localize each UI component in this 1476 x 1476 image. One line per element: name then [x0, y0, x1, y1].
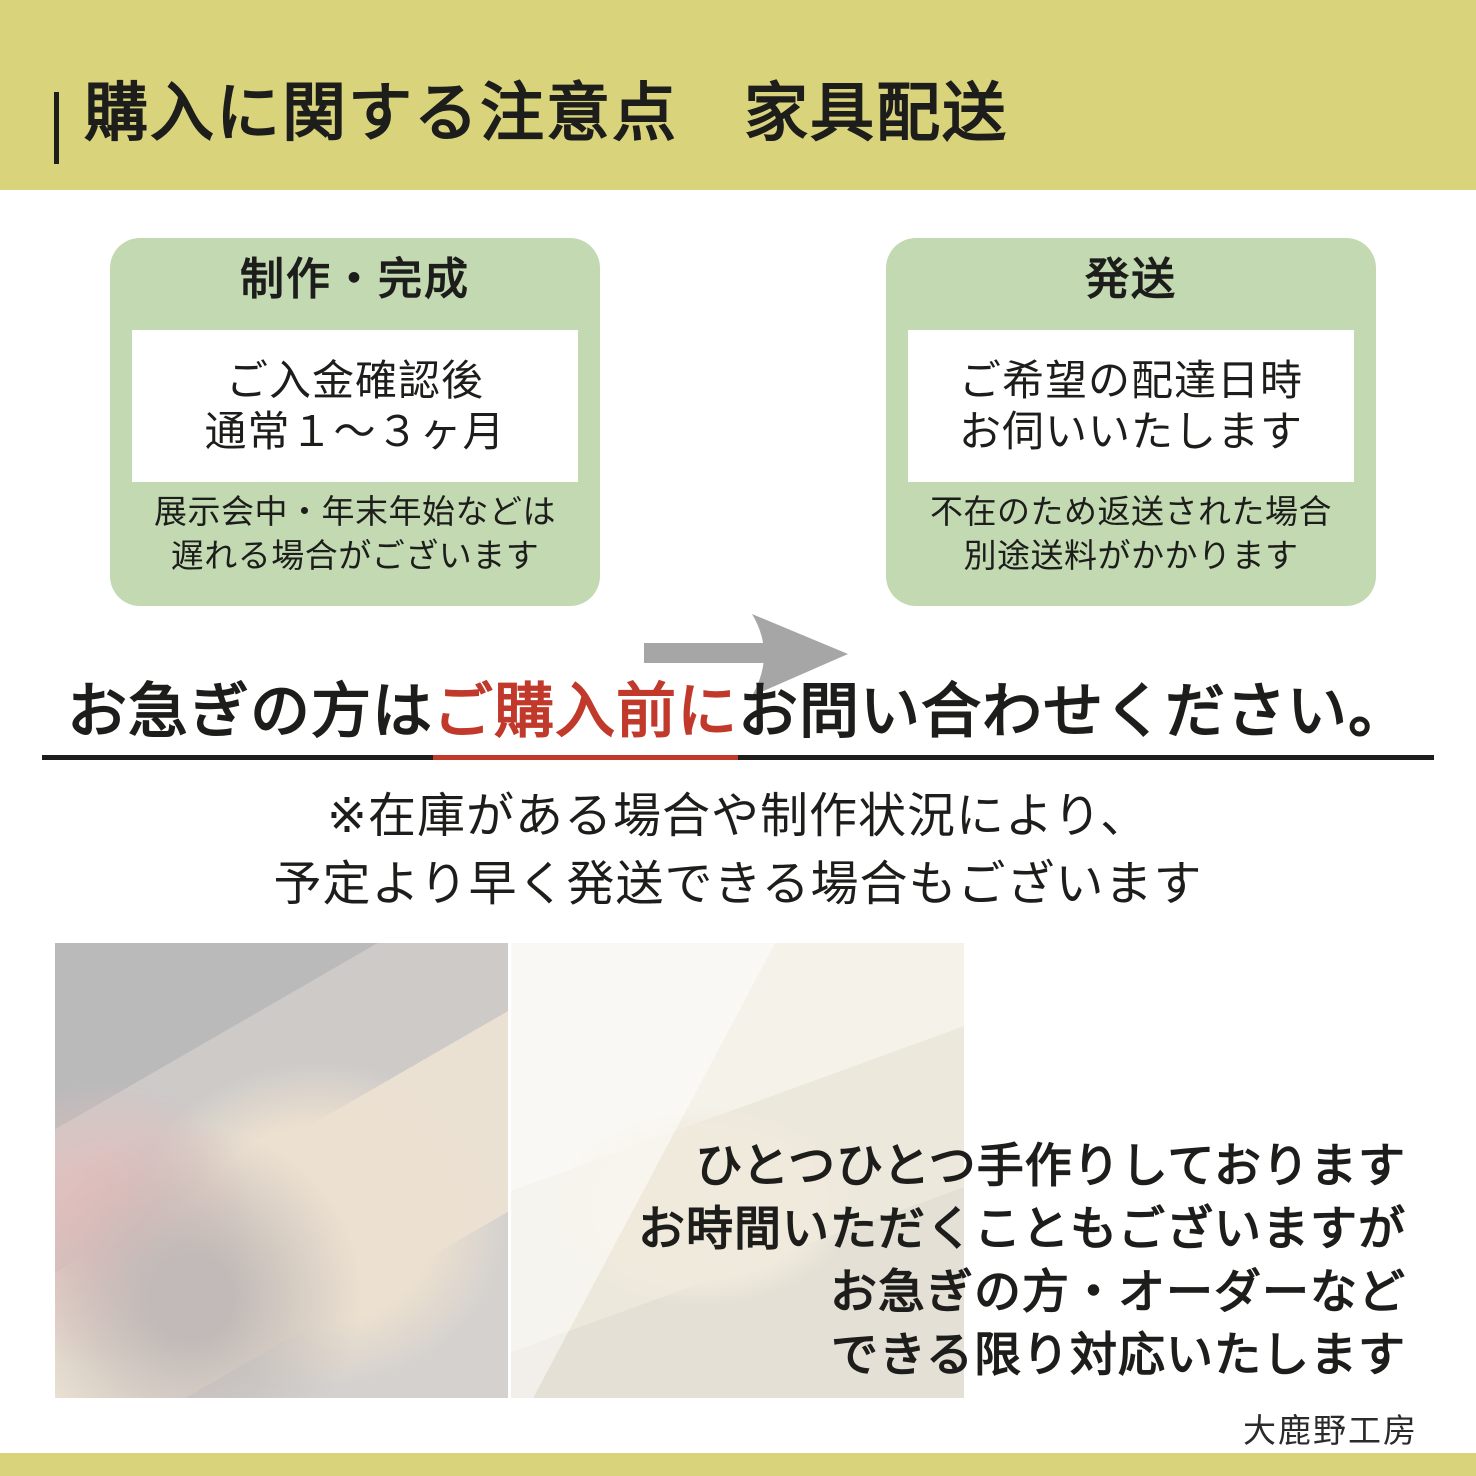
notice-prefix: お急ぎの方は	[67, 677, 433, 747]
process-steps: 制作・完成 ご入金確認後 通常１〜３ヶ月 展示会中・年末年始などは 遅れる場合が…	[0, 238, 1476, 610]
step-note-production: 展示会中・年末年始などは 遅れる場合がございます	[110, 490, 600, 578]
notice-highlight-wrap: ご購入前に	[433, 678, 738, 747]
step-note-line: 遅れる場合がございます	[110, 534, 600, 578]
notice-sub-block: ※在庫がある場合や制作状況により、 予定より早く発送できる場合もございます	[0, 782, 1476, 918]
notice-highlight: ご購入前に	[433, 677, 738, 747]
step-heading-production: 制作・完成	[110, 256, 600, 304]
photo-veil	[55, 943, 508, 1398]
header-accent-bar	[54, 92, 59, 164]
photo-overlay-text: ひとつひとつ手作りしております お時間いただくこともございますが お急ぎの方・オ…	[638, 1136, 1406, 1388]
infographic-page: 購入に関する注意点 家具配送 制作・完成 ご入金確認後 通常１〜３ヶ月 展示会中…	[0, 0, 1476, 1476]
brand-signature: 大鹿野工房	[1243, 1404, 1418, 1452]
step-panel-line: 通常１〜３ヶ月	[204, 406, 505, 457]
overlay-line: お時間いただくこともございますが	[638, 1199, 1406, 1262]
photo-strip: ひとつひとつ手作りしております お時間いただくこともございますが お急ぎの方・オ…	[55, 943, 1420, 1398]
overlay-line: できる限り対応いたします	[638, 1325, 1406, 1388]
step-note-shipping: 不在のため返送された場合 別途送料がかかります	[886, 490, 1376, 578]
notice-block: お急ぎの方はご購入前にお問い合わせください。 ※在庫がある場合や制作状況により、…	[0, 678, 1476, 918]
notice-main-line: お急ぎの方はご購入前にお問い合わせください。	[42, 678, 1434, 760]
step-note-line: 別途送料がかかります	[886, 534, 1376, 578]
overlay-line: ひとつひとつ手作りしております	[638, 1136, 1406, 1199]
step-panel-shipping: ご希望の配達日時 お伺いいたします	[908, 330, 1354, 482]
footer-bar	[0, 1453, 1476, 1476]
notice-sub-line: ※在庫がある場合や制作状況により、	[0, 782, 1476, 850]
page-title: 購入に関する注意点 家具配送	[84, 82, 1008, 146]
notice-sub-line: 予定より早く発送できる場合もございます	[0, 850, 1476, 918]
step-panel-line: ご希望の配達日時	[959, 355, 1303, 406]
header-bar: 購入に関する注意点 家具配送	[0, 0, 1476, 190]
step-card-shipping: 発送 ご希望の配達日時 お伺いいたします 不在のため返送された場合 別途送料がか…	[886, 238, 1376, 606]
step-panel-line: お伺いいたします	[959, 406, 1303, 457]
step-panel-production: ご入金確認後 通常１〜３ヶ月	[132, 330, 578, 482]
notice-suffix: お問い合わせください。	[738, 677, 1409, 747]
step-heading-shipping: 発送	[886, 256, 1376, 304]
step-panel-line: ご入金確認後	[226, 355, 484, 406]
step-card-production: 制作・完成 ご入金確認後 通常１〜３ヶ月 展示会中・年末年始などは 遅れる場合が…	[110, 238, 600, 606]
step-note-line: 不在のため返送された場合	[886, 490, 1376, 534]
photo-plane-shaving	[55, 943, 508, 1398]
overlay-line: お急ぎの方・オーダーなど	[638, 1262, 1406, 1325]
step-note-line: 展示会中・年末年始などは	[110, 490, 600, 534]
